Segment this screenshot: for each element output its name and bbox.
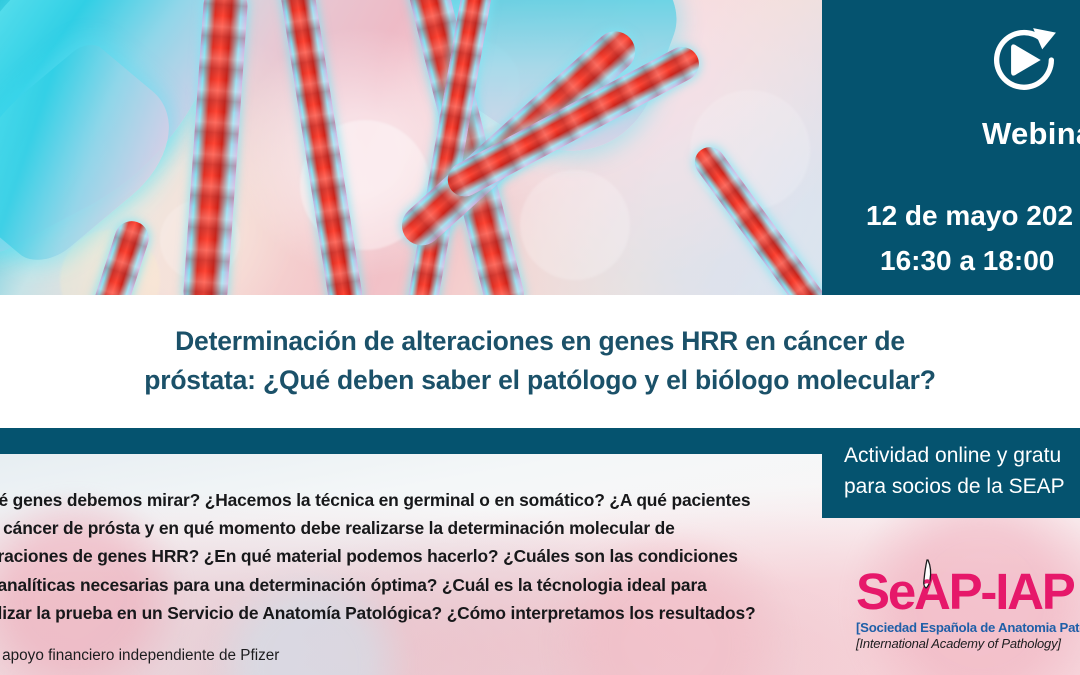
hero-info-panel: Webinar 12 de mayo 202 16:30 a 18:00 <box>822 0 1080 295</box>
description-line: ué genes debemos mirar? ¿Hacemos la técn… <box>0 486 800 514</box>
funding-note: el apoyo financiero independiente de Pfi… <box>0 646 686 666</box>
dna-illustration <box>0 0 822 295</box>
description-line: alizar la prueba en un Servicio de Anato… <box>0 599 800 627</box>
page-title-line-2: próstata: ¿Qué deben saber el patólogo y… <box>144 361 936 400</box>
description-line: eanalíticas necesarias para una determin… <box>0 571 800 599</box>
dna-strand <box>278 0 364 295</box>
seap-iap-logo: SeAP-IAP [Sociedad Española de Anatomia … <box>856 566 1080 650</box>
webinar-replay-play-icon <box>986 22 1062 98</box>
availability-line-2: para socios de la SEAP <box>844 471 1080 502</box>
seap-wordmark-text: SeAP-IAP <box>856 563 1074 620</box>
title-band: Determinación de alteraciones en genes H… <box>0 295 1080 427</box>
availability-callout: Actividad online y gratu para socios de … <box>822 428 1080 518</box>
availability-line-1: Actividad online y gratu <box>844 440 1080 471</box>
page-title-line-1: Determinación de alteraciones en genes H… <box>175 322 905 361</box>
description-text: ué genes debemos mirar? ¿Hacemos la técn… <box>0 486 800 627</box>
description-line: n cáncer de prósta y en qué momento debe… <box>0 514 800 542</box>
microscope-icon <box>920 558 935 598</box>
webinar-time: 16:30 a 18:00 <box>822 245 1080 277</box>
hero-section: Webinar 12 de mayo 202 16:30 a 18:00 <box>0 0 1080 295</box>
webinar-label: Webinar <box>822 116 1080 152</box>
seap-subtitle-es: [Sociedad Española de Anatomia Patológic… <box>856 620 1080 635</box>
seap-subtitle-en: [International Academy of Pathology] <box>856 636 1080 651</box>
seap-wordmark: SeAP-IAP <box>856 566 1080 617</box>
bokeh-circle <box>520 170 630 280</box>
webinar-date: 12 de mayo 202 <box>822 200 1080 232</box>
webinar-poster: Webinar 12 de mayo 202 16:30 a 18:00 Det… <box>0 0 1080 675</box>
dna-strand <box>689 141 822 295</box>
description-line: eraciones de genes HRR? ¿En qué material… <box>0 542 800 570</box>
